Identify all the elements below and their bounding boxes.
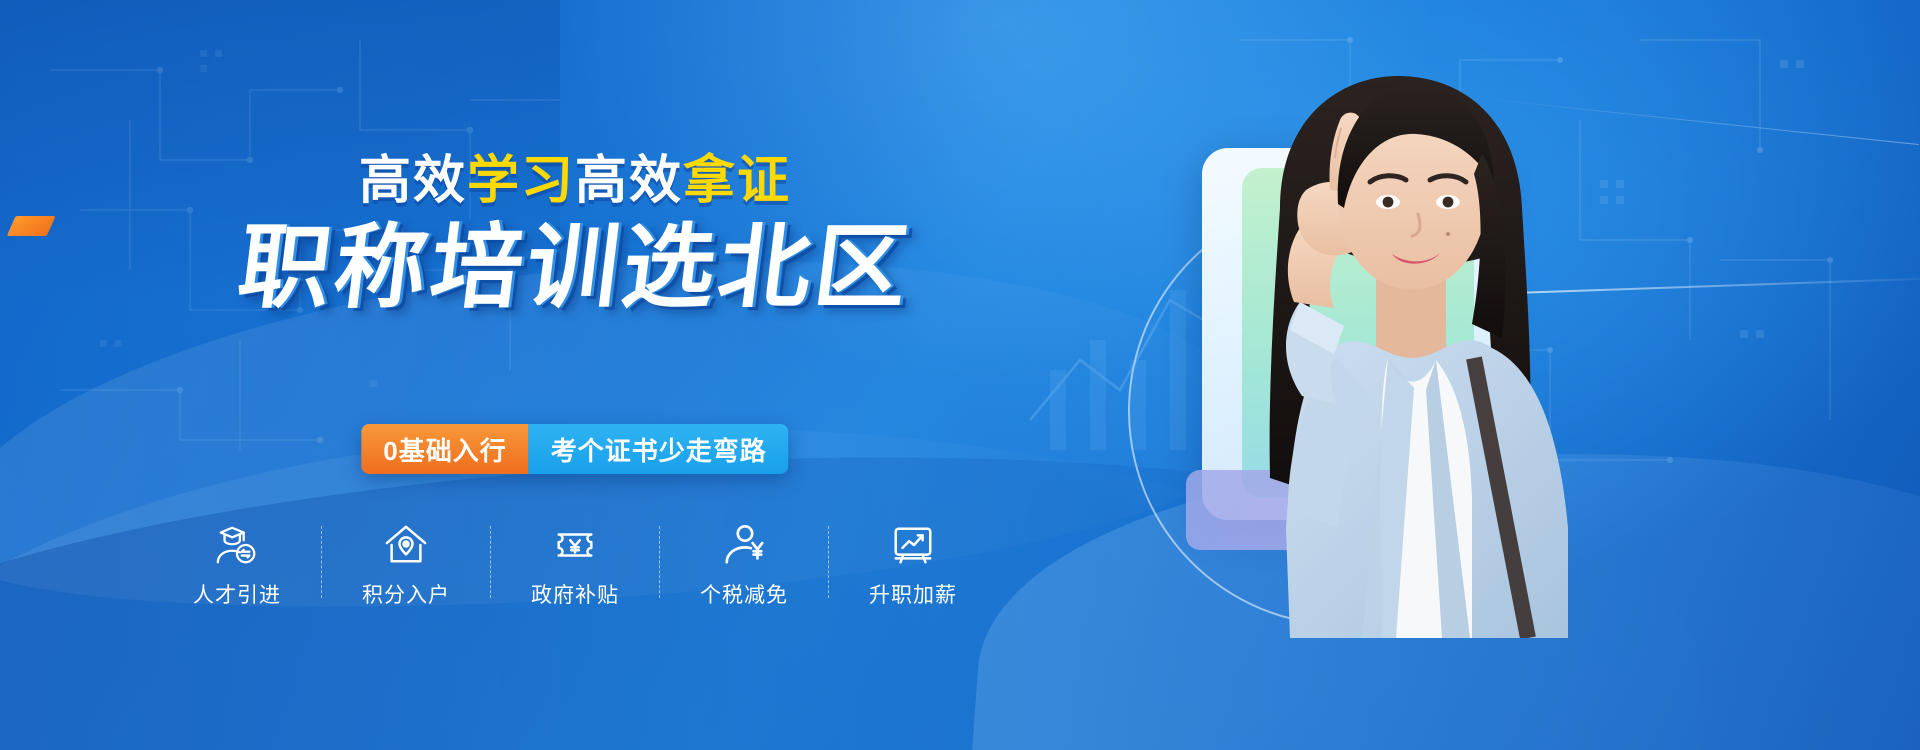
feature-divider <box>659 526 660 598</box>
feature-label: 个税减免 <box>700 579 788 609</box>
person-yuan-icon <box>721 522 767 568</box>
eyebrow-headline: 高效学习高效拿证 <box>0 155 1150 207</box>
feature-divider <box>490 526 491 598</box>
headline-text: 职称培训选北区 <box>233 222 916 314</box>
graduate-exchange-icon <box>214 522 260 568</box>
feature-item-promotion[interactable]: 升职加薪 <box>846 522 980 609</box>
eyebrow-seg-3: 高效 <box>575 155 683 207</box>
tagline-pill[interactable]: 0基础入行 考个证书少走弯路 <box>361 424 788 474</box>
tagline-pill-left[interactable]: 0基础入行 <box>361 424 528 474</box>
eyebrow-seg-1: 高效 <box>359 155 467 207</box>
feature-list: 人才引进 积分入户 <box>0 522 1150 609</box>
feature-label: 升职加薪 <box>869 579 957 609</box>
feature-item-subsidy[interactable]: 政府补贴 <box>508 522 642 609</box>
eyebrow-seg-4: 拿证 <box>683 155 791 207</box>
house-pin-icon <box>383 522 429 568</box>
feature-divider <box>321 526 322 598</box>
tagline-pill-right[interactable]: 考个证书少走弯路 <box>529 424 789 474</box>
feature-item-tax[interactable]: 个税减免 <box>677 522 811 609</box>
banner-content: 高效学习高效拿证 职称培训选北区 0基础入行 考个证书少走弯路 <box>0 0 1150 750</box>
feature-divider <box>828 526 829 598</box>
feature-label: 政府补贴 <box>531 579 619 609</box>
feature-item-residency[interactable]: 积分入户 <box>339 522 473 609</box>
feature-label: 人才引进 <box>193 579 281 609</box>
presenter-photo <box>1130 58 1650 638</box>
feature-label: 积分入户 <box>362 579 450 609</box>
chart-board-icon <box>890 522 936 568</box>
coupon-yuan-icon <box>552 522 598 568</box>
feature-item-talent[interactable]: 人才引进 <box>170 522 304 609</box>
promo-banner: 高效学习高效拿证 职称培训选北区 0基础入行 考个证书少走弯路 <box>0 0 1920 750</box>
eyebrow-seg-2: 学习 <box>467 155 575 207</box>
main-headline: 职称培训选北区 <box>0 222 1156 314</box>
headline-accent-mark <box>7 216 56 236</box>
